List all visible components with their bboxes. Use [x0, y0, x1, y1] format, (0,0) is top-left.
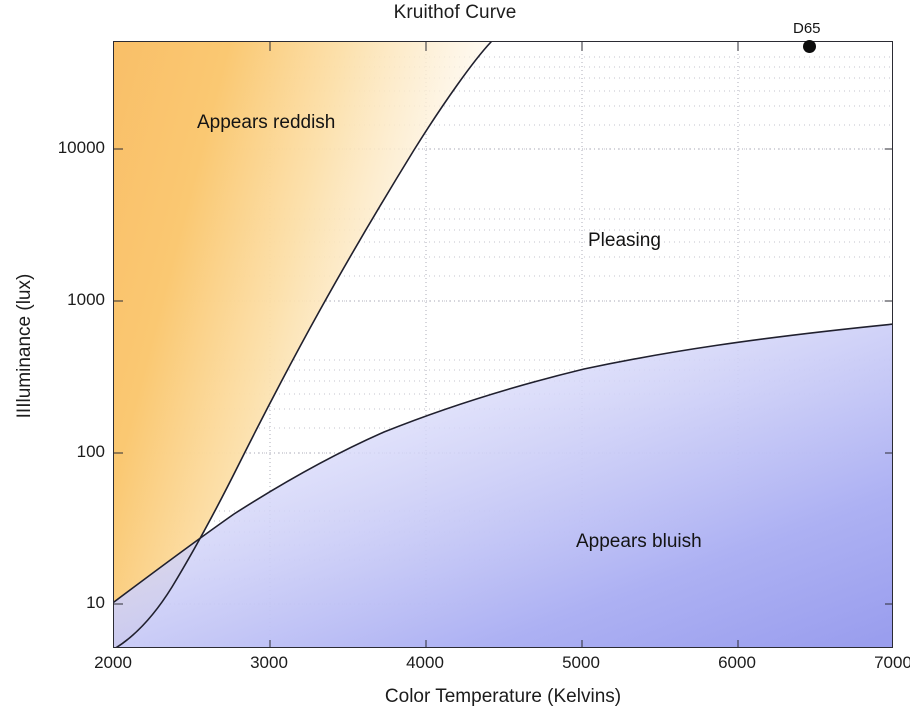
x-tick-3000: 3000 [209, 653, 329, 673]
region-label-reddish: Appears reddish [197, 112, 335, 134]
region-label-pleasing: Pleasing [588, 230, 661, 252]
chart-title: Kruithof Curve [0, 2, 910, 24]
chart-canvas: Kruithof Curve IIIluminance (lux) Color … [0, 0, 910, 715]
x-tick-5000: 5000 [521, 653, 641, 673]
x-tick-6000: 6000 [677, 653, 797, 673]
d65-point-label: D65 [793, 20, 821, 37]
region-label-bluish: Appears bluish [576, 531, 702, 553]
x-tick-2000: 2000 [53, 653, 173, 673]
y-axis-tick-labels: 10000 1000 100 10 [0, 0, 105, 715]
y-tick-1000: 1000 [9, 290, 105, 310]
x-axis-title: Color Temperature (Kelvins) [113, 686, 893, 708]
d65-point-marker [803, 40, 816, 53]
x-tick-7000: 7000 [833, 653, 910, 673]
y-tick-10000: 10000 [9, 138, 105, 158]
y-tick-100: 100 [9, 442, 105, 462]
y-tick-10: 10 [9, 593, 105, 613]
x-tick-4000: 4000 [365, 653, 485, 673]
plot-area: Appears reddish Pleasing Appears bluish [113, 41, 893, 648]
